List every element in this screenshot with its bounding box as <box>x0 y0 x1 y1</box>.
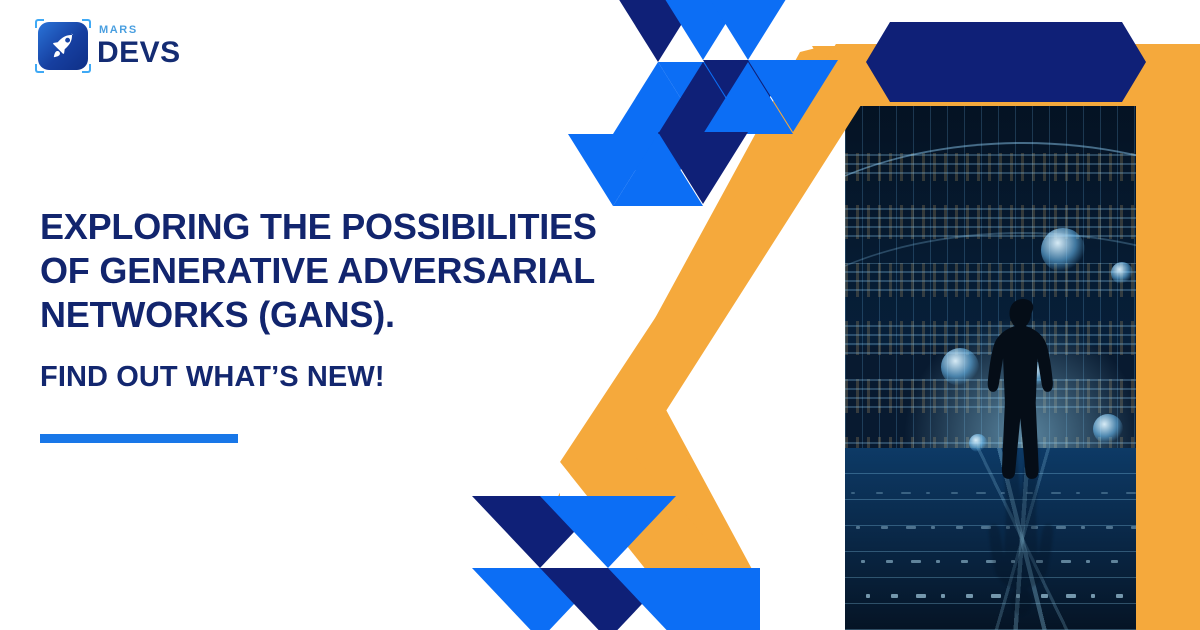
floor-dash <box>886 560 893 563</box>
bracket-top-left-icon <box>35 19 44 28</box>
logo-top-word: MARS <box>99 25 181 36</box>
floor-dash <box>926 492 930 494</box>
floor-dash <box>881 526 888 529</box>
floor-dash <box>936 560 940 563</box>
triangle-b3a <box>608 568 760 630</box>
bracket-bottom-left-icon <box>35 64 44 73</box>
glow-orb-3 <box>941 348 979 386</box>
triangle-t1b <box>658 0 748 60</box>
page-subtitle: Find out what’s new! <box>40 361 640 394</box>
floor-dash <box>941 594 945 598</box>
rocket-glyph-icon <box>48 31 78 61</box>
floor-dash <box>1086 560 1090 563</box>
floor-dash <box>876 492 883 494</box>
triangle-t3a <box>613 62 703 134</box>
glow-orb-7 <box>1141 192 1157 208</box>
floor-dash <box>901 492 911 494</box>
triangle-t4c <box>568 134 658 206</box>
accent-rule <box>40 434 238 443</box>
glow-orb-5 <box>1093 414 1123 444</box>
triangle-t3b <box>658 62 748 134</box>
floor-dash <box>911 560 921 563</box>
floor-dash <box>1166 594 1170 598</box>
floor-dash <box>1081 526 1085 529</box>
triangle-b2a <box>472 568 608 630</box>
floor-dash <box>1141 594 1151 598</box>
floor-dash <box>951 492 958 494</box>
mars-devs-logo[interactable]: MARS DEVS <box>38 22 181 70</box>
floor-dash <box>961 560 968 563</box>
floor-dash <box>1091 594 1095 598</box>
floor-dash <box>956 526 963 529</box>
data-center-silhouette-photo <box>845 62 1200 630</box>
bracket-top-right-icon <box>82 19 91 28</box>
floor-dash <box>851 492 855 494</box>
floor-dash <box>1101 492 1108 494</box>
triangle-t4d <box>613 134 703 206</box>
bracket-bottom-right-icon <box>82 64 91 73</box>
floor-dash <box>1076 492 1080 494</box>
logo-bottom-word: DEVS <box>97 38 181 68</box>
floor-dash <box>1116 594 1123 598</box>
floor-dash <box>891 594 898 598</box>
photo-clip <box>760 0 1200 630</box>
logo-wordmark: MARS DEVS <box>97 25 181 68</box>
glow-orb-1 <box>1041 228 1085 272</box>
floor-dash <box>861 560 865 563</box>
floor-dash <box>1176 492 1183 494</box>
businessman-silhouette <box>975 296 1071 508</box>
floor-dash <box>856 526 860 529</box>
rocket-icon <box>38 22 88 70</box>
copy-block: Exploring the possibilities of Generativ… <box>40 205 640 443</box>
triangle-t4b <box>658 132 748 204</box>
floor-dash <box>931 526 935 529</box>
floor-dash <box>1156 526 1160 529</box>
floor-dash <box>966 594 973 598</box>
floor-dash <box>1151 492 1155 494</box>
page-title: Exploring the possibilities of Generativ… <box>40 205 640 337</box>
floor-dash <box>906 526 916 529</box>
triangle-t4a <box>613 134 703 206</box>
floor-dash <box>916 594 926 598</box>
floor-dash <box>1161 560 1165 563</box>
floor-dash <box>1131 526 1141 529</box>
floor-dash <box>1136 560 1146 563</box>
floor-dash <box>1181 526 1188 529</box>
triangle-t2a <box>658 62 748 134</box>
triangle-b1b <box>540 496 676 568</box>
floor-dash <box>1191 594 1198 598</box>
glow-orb-2 <box>1111 262 1133 284</box>
floor-dash <box>866 594 870 598</box>
triangle-b2b <box>540 568 676 630</box>
floor-dash <box>1111 560 1118 563</box>
triangle-b1a <box>472 496 608 568</box>
floor-dash <box>1126 492 1136 494</box>
floor-dash <box>1186 560 1193 563</box>
chevron-inner-white <box>560 462 694 630</box>
triangle-cluster-bottom <box>472 496 760 630</box>
floor-dash <box>1106 526 1113 529</box>
triangle-t1a <box>613 0 703 62</box>
banner-root: MARS DEVS Exploring the possibilities of… <box>0 0 1200 630</box>
